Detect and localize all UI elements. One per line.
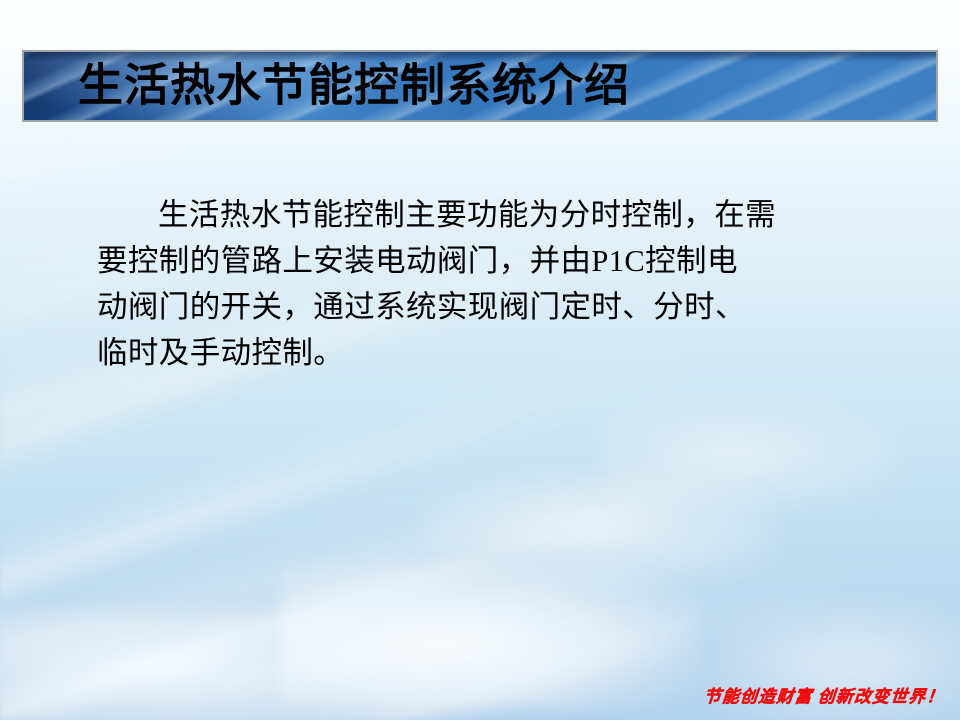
presentation-slide: 生活热水节能控制系统介绍 生活热水节能控制主要功能为分时控制，在需 要控制的管路… <box>0 0 960 720</box>
footer-slogan: 节能创造财富 创新改变世界！ <box>703 682 946 707</box>
title-banner: 生活热水节能控制系统介绍 <box>22 50 938 122</box>
body-line: 要控制的管路上安装电动阀门，并由P1C控制电 <box>97 238 797 284</box>
body-line: 生活热水节能控制主要功能为分时控制，在需 <box>97 192 797 238</box>
body-paragraph: 生活热水节能控制主要功能为分时控制，在需 要控制的管路上安装电动阀门，并由P1C… <box>97 192 797 376</box>
body-line: 动阀门的开关，通过系统实现阀门定时、分时、 <box>97 284 797 330</box>
body-line: 临时及手动控制。 <box>97 330 797 376</box>
cloud-puff <box>0 610 460 720</box>
slide-title: 生活热水节能控制系统介绍 <box>78 64 630 109</box>
